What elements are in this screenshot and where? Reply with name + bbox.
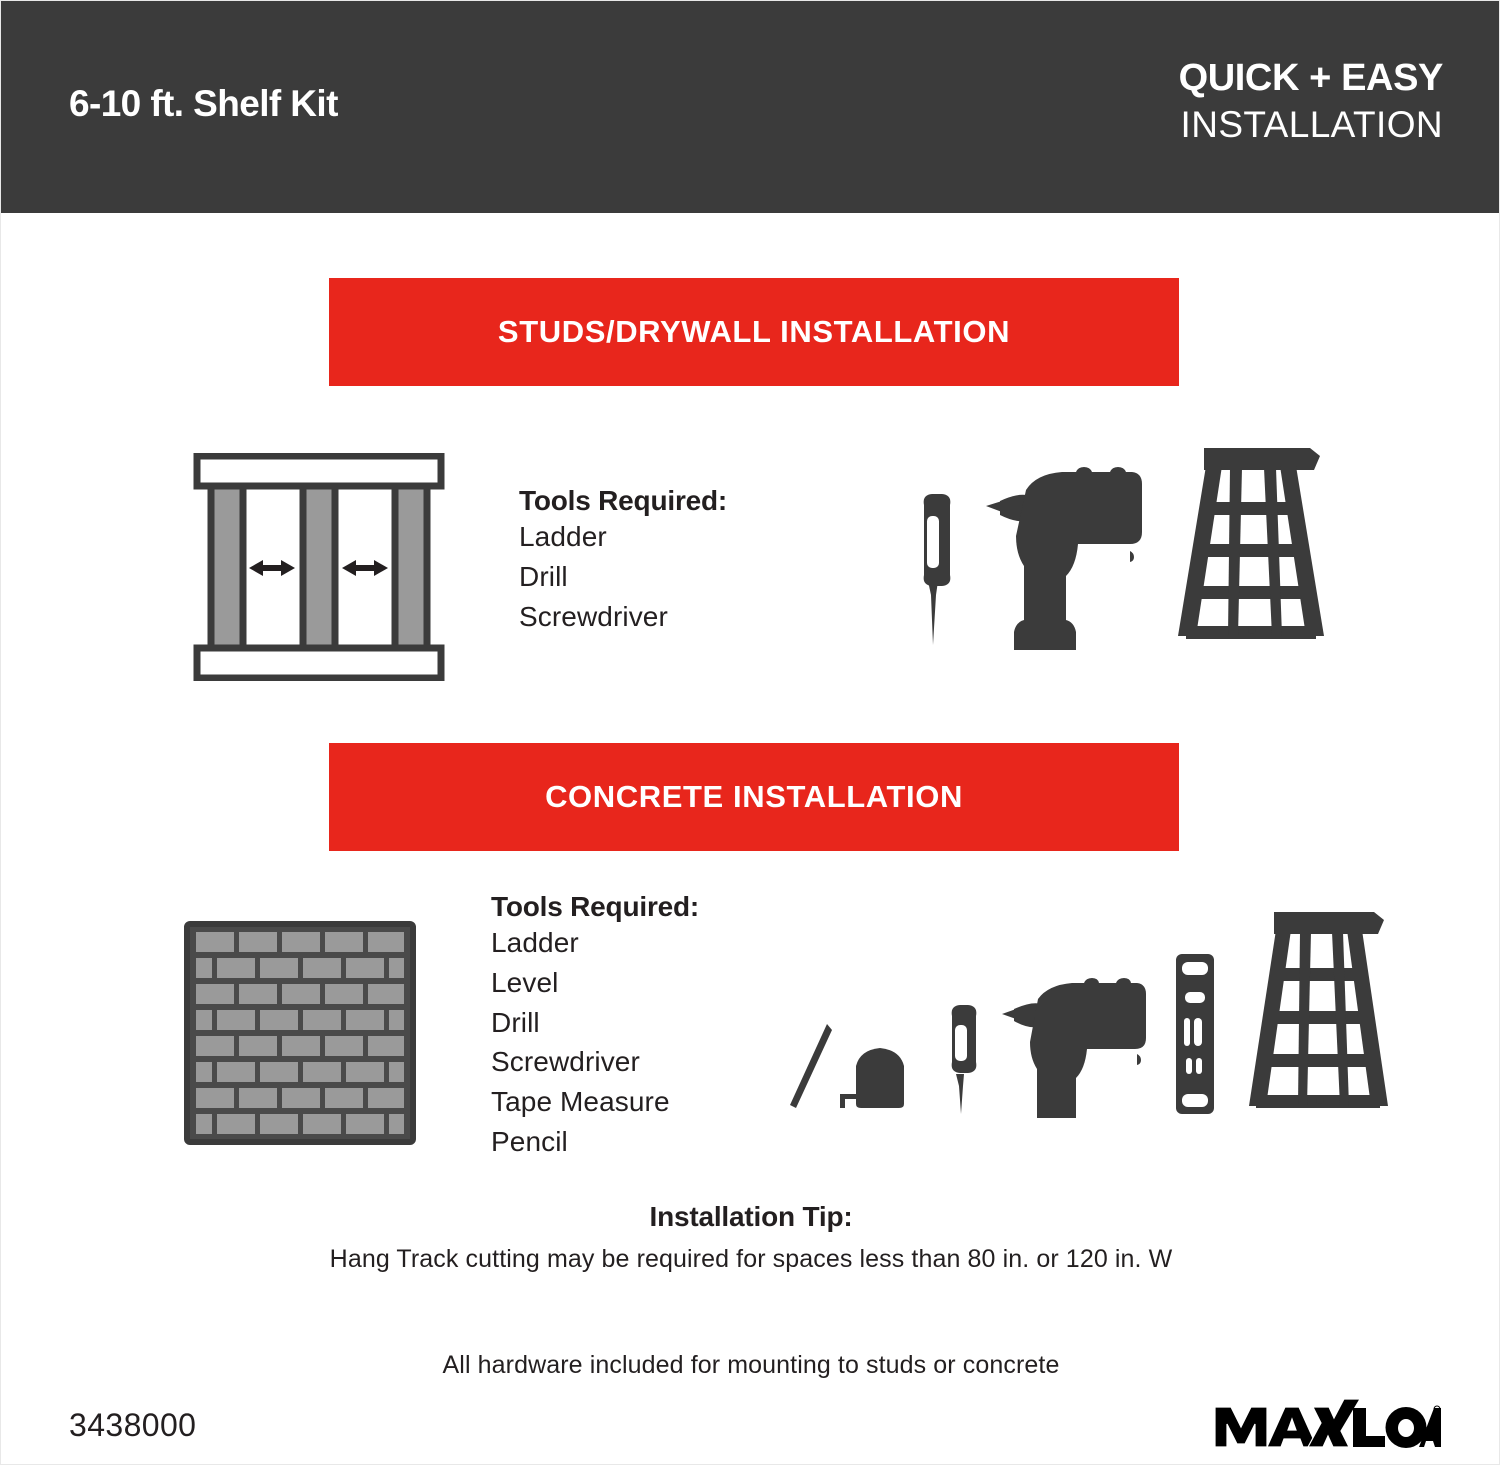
product-sku: 3438000 (69, 1407, 196, 1444)
tool-item: Drill (491, 1003, 699, 1043)
tagline-installation: INSTALLATION (1179, 106, 1443, 143)
tool-item: Level (491, 963, 699, 1003)
banner-concrete: CONCRETE INSTALLATION (329, 743, 1179, 851)
ladder-icon (1168, 438, 1326, 655)
tool-item: Screwdriver (519, 597, 727, 637)
drill-icon (1000, 906, 1150, 1123)
tagline-quick-easy: QUICK + EASY (1179, 59, 1443, 97)
tool-item: Screwdriver (491, 1042, 699, 1082)
pencil-icon (786, 906, 832, 1123)
tool-item: Tape Measure (491, 1082, 699, 1122)
tools-required-studs: Tools Required: Ladder Drill Screwdriver (519, 485, 727, 636)
page-title: 6-10 ft. Shelf Kit (69, 83, 338, 125)
installation-tip: Installation Tip: Hang Track cutting may… (1, 1201, 1500, 1274)
header-bar: 6-10 ft. Shelf Kit QUICK + EASY INSTALLA… (1, 1, 1500, 213)
ladder-icon (1242, 906, 1390, 1123)
installation-tip-text: Hang Track cutting may be required for s… (1, 1245, 1500, 1274)
level-icon (1172, 906, 1220, 1123)
brick-wall-diagram (184, 921, 416, 1145)
tools-required-heading: Tools Required: (519, 485, 727, 517)
infographic-page: 6-10 ft. Shelf Kit QUICK + EASY INSTALLA… (0, 0, 1500, 1465)
header-tagline: QUICK + EASY INSTALLATION (1179, 59, 1443, 143)
banner-studs-drywall: STUDS/DRYWALL INSTALLATION (329, 278, 1179, 386)
stud-wall-diagram (193, 453, 445, 681)
tape-measure-icon (836, 906, 916, 1123)
hardware-included-note: All hardware included for mounting to st… (1, 1351, 1500, 1380)
drill-icon (984, 438, 1144, 655)
tools-required-heading: Tools Required: (491, 891, 699, 923)
screwdriver-icon (938, 906, 988, 1123)
screwdriver-icon (896, 450, 962, 655)
installation-tip-heading: Installation Tip: (1, 1201, 1500, 1233)
tool-icons-studs (896, 438, 1326, 655)
tool-item: Pencil (491, 1122, 699, 1162)
banner-studs-drywall-label: STUDS/DRYWALL INSTALLATION (498, 314, 1010, 350)
tool-item: Drill (519, 557, 727, 597)
maxload-logo (1213, 1397, 1441, 1453)
tools-required-concrete: Tools Required: Ladder Level Drill Screw… (491, 891, 699, 1162)
banner-concrete-label: CONCRETE INSTALLATION (545, 779, 963, 815)
tool-icons-concrete (786, 906, 1390, 1123)
tool-item: Ladder (491, 923, 699, 963)
tool-item: Ladder (519, 517, 727, 557)
